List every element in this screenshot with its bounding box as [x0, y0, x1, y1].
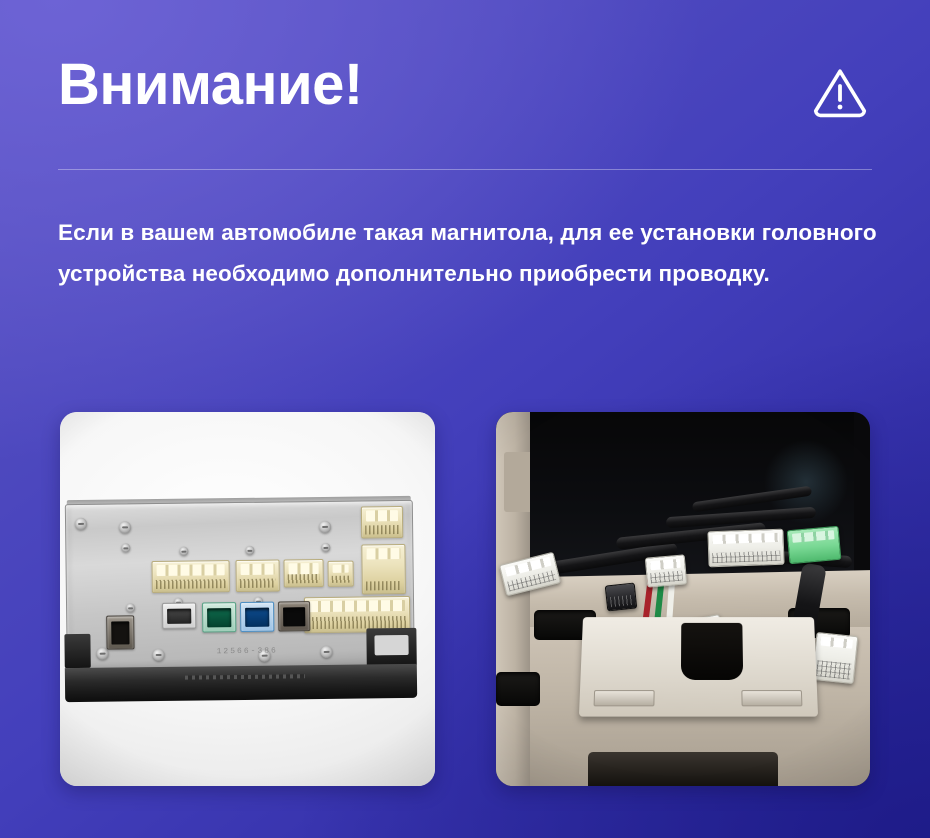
slide-root: Внимание! Если в вашем автомобиле такая … [0, 0, 930, 838]
photo-gallery: 12566-386 [0, 412, 930, 788]
dashboard-harness-image [496, 412, 870, 786]
head-unit-photo-card[interactable]: 12566-386 [60, 412, 435, 786]
wiring-harness-photo-card[interactable] [496, 412, 870, 786]
body-paragraph: Если в вашем автомобиле такая магнитола,… [58, 212, 878, 294]
warning-triangle-icon [812, 66, 868, 118]
header-divider [58, 169, 872, 170]
page-title: Внимание! [58, 56, 363, 114]
header: Внимание! [0, 0, 930, 170]
device-model-label: 12566-386 [217, 647, 278, 657]
head-unit-rear-image: 12566-386 [60, 412, 435, 786]
